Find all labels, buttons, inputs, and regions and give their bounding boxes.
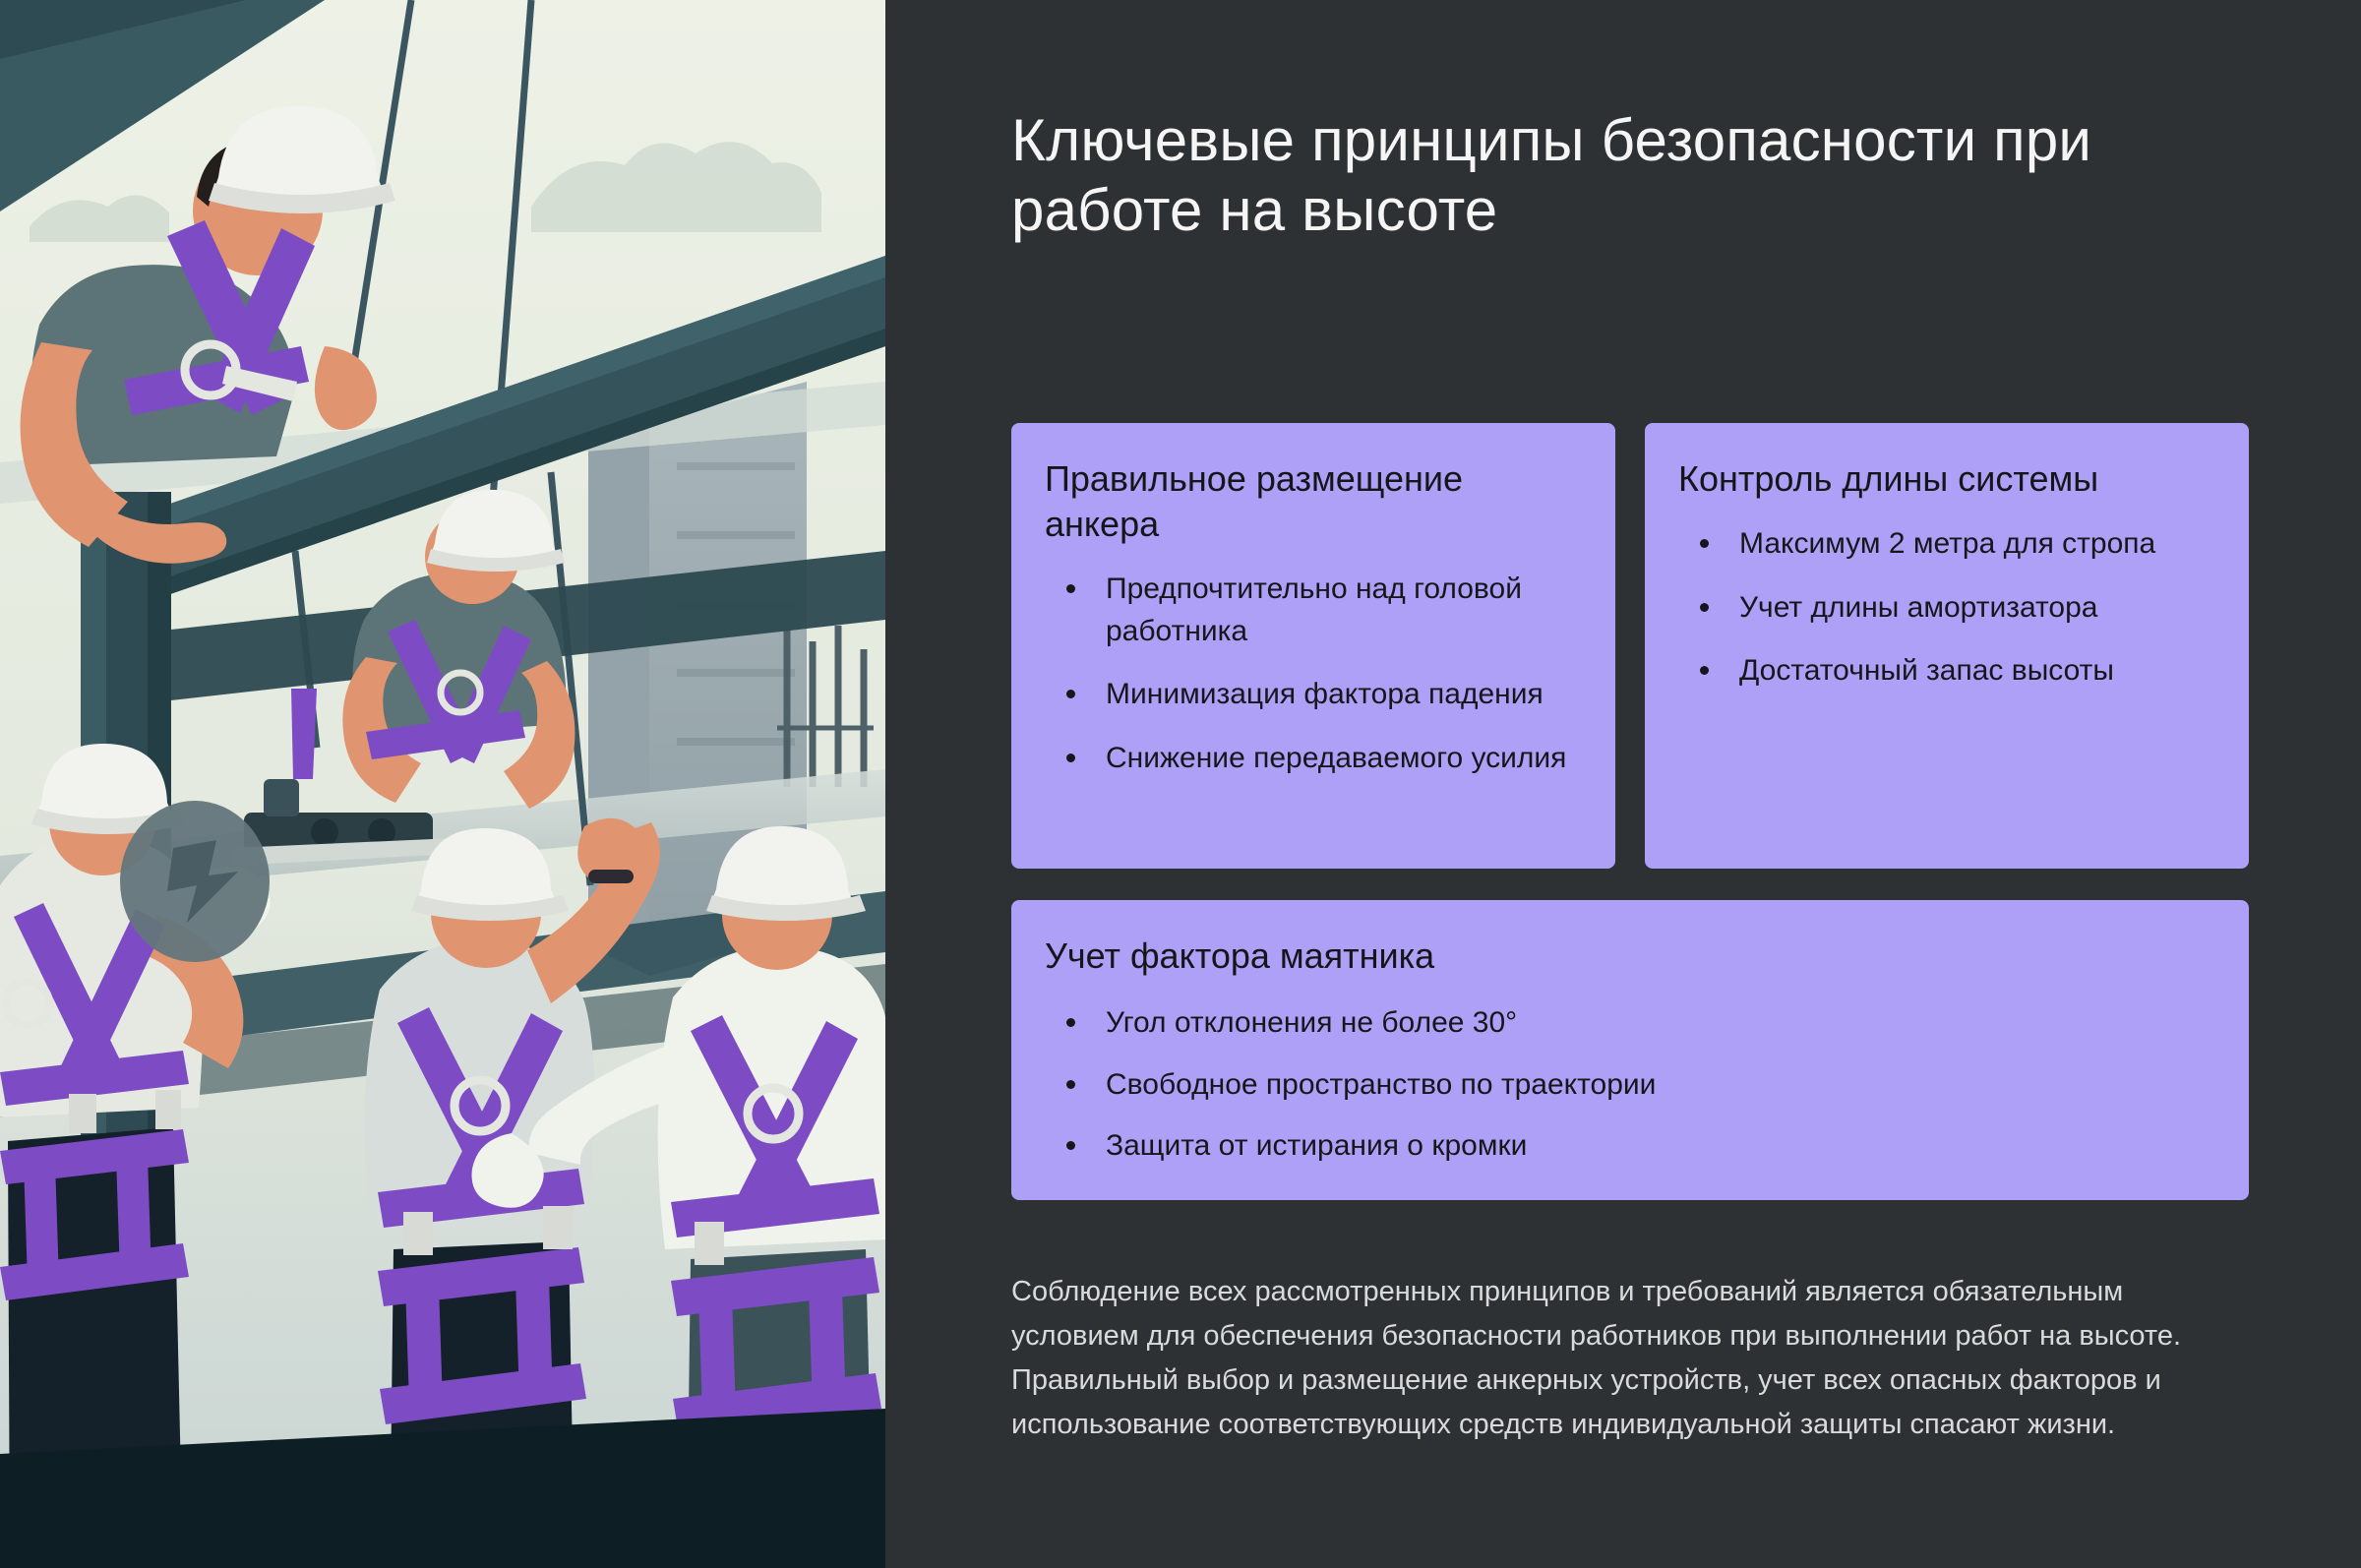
card-bullet-list: Предпочтительно над головой работника Ми… bbox=[1045, 569, 1582, 779]
bullet-dot-icon bbox=[1066, 1018, 1075, 1027]
bullet-text: Свободное пространство по траектории bbox=[1106, 1068, 1656, 1101]
list-item: Максимум 2 метра для стропа bbox=[1678, 523, 2215, 566]
bullet-text: Предпочтительно над головой работника bbox=[1106, 573, 1522, 647]
principle-card-system-length: Контроль длины системы Максимум 2 метра … bbox=[1645, 423, 2249, 869]
content-panel: Ключевые принципы безопасности при работ… bbox=[885, 0, 2361, 1568]
bullet-text: Минимизация фактора падения bbox=[1106, 678, 1544, 710]
illustration-panel bbox=[0, 0, 885, 1568]
list-item: Свободное пространство по траектории bbox=[1045, 1064, 2215, 1107]
bullet-text: Максимум 2 метра для стропа bbox=[1739, 527, 2155, 560]
bullet-dot-icon bbox=[1066, 1080, 1075, 1089]
bullet-dot-icon bbox=[1066, 754, 1075, 762]
card-heading: Контроль длины системы bbox=[1678, 456, 2215, 502]
slide: Ключевые принципы безопасности при работ… bbox=[0, 0, 2361, 1568]
list-item: Защита от истирания о кромки bbox=[1045, 1125, 2215, 1168]
bullet-text: Угол отклонения не более 30° bbox=[1106, 1006, 1517, 1039]
card-bullet-list: Угол отклонения не более 30° Свободное п… bbox=[1045, 1002, 2215, 1168]
list-item: Учет длины амортизатора bbox=[1678, 587, 2215, 630]
summary-paragraph: Соблюдение всех рассмотренных принципов … bbox=[1011, 1270, 2204, 1447]
bullet-dot-icon bbox=[1700, 666, 1709, 675]
bullet-dot-icon bbox=[1700, 539, 1709, 548]
list-item: Достаточный запас высоты bbox=[1678, 650, 2215, 693]
list-item: Угол отклонения не более 30° bbox=[1045, 1002, 2215, 1045]
bullet-text: Достаточный запас высоты bbox=[1739, 654, 2114, 687]
card-heading: Правильное размещение анкера bbox=[1045, 456, 1582, 547]
principle-card-anchor-placement: Правильное размещение анкера Предпочтите… bbox=[1011, 423, 1615, 869]
bullet-text: Учет длины амортизатора bbox=[1739, 591, 2097, 624]
construction-workers-illustration bbox=[0, 0, 885, 1568]
bullet-dot-icon bbox=[1066, 1141, 1075, 1150]
list-item: Минимизация фактора падения bbox=[1045, 674, 1582, 716]
page-title: Ключевые принципы безопасности при работ… bbox=[1011, 106, 2152, 246]
cards-row: Правильное размещение анкера Предпочтите… bbox=[1011, 423, 2249, 869]
list-item: Снижение передаваемого усилия bbox=[1045, 738, 1582, 780]
principle-card-pendulum-factor: Учет фактора маятника Угол отклонения не… bbox=[1011, 900, 2249, 1200]
bullet-dot-icon bbox=[1066, 690, 1075, 698]
bullet-text: Защита от истирания о кромки bbox=[1106, 1129, 1527, 1162]
bullet-text: Снижение передаваемого усилия bbox=[1106, 742, 1566, 774]
list-item: Предпочтительно над головой работника bbox=[1045, 569, 1582, 652]
card-heading: Учет фактора маятника bbox=[1045, 934, 2215, 979]
bullet-dot-icon bbox=[1700, 603, 1709, 612]
card-bullet-list: Максимум 2 метра для стропа Учет длины а… bbox=[1678, 523, 2215, 693]
bullet-dot-icon bbox=[1066, 584, 1075, 593]
